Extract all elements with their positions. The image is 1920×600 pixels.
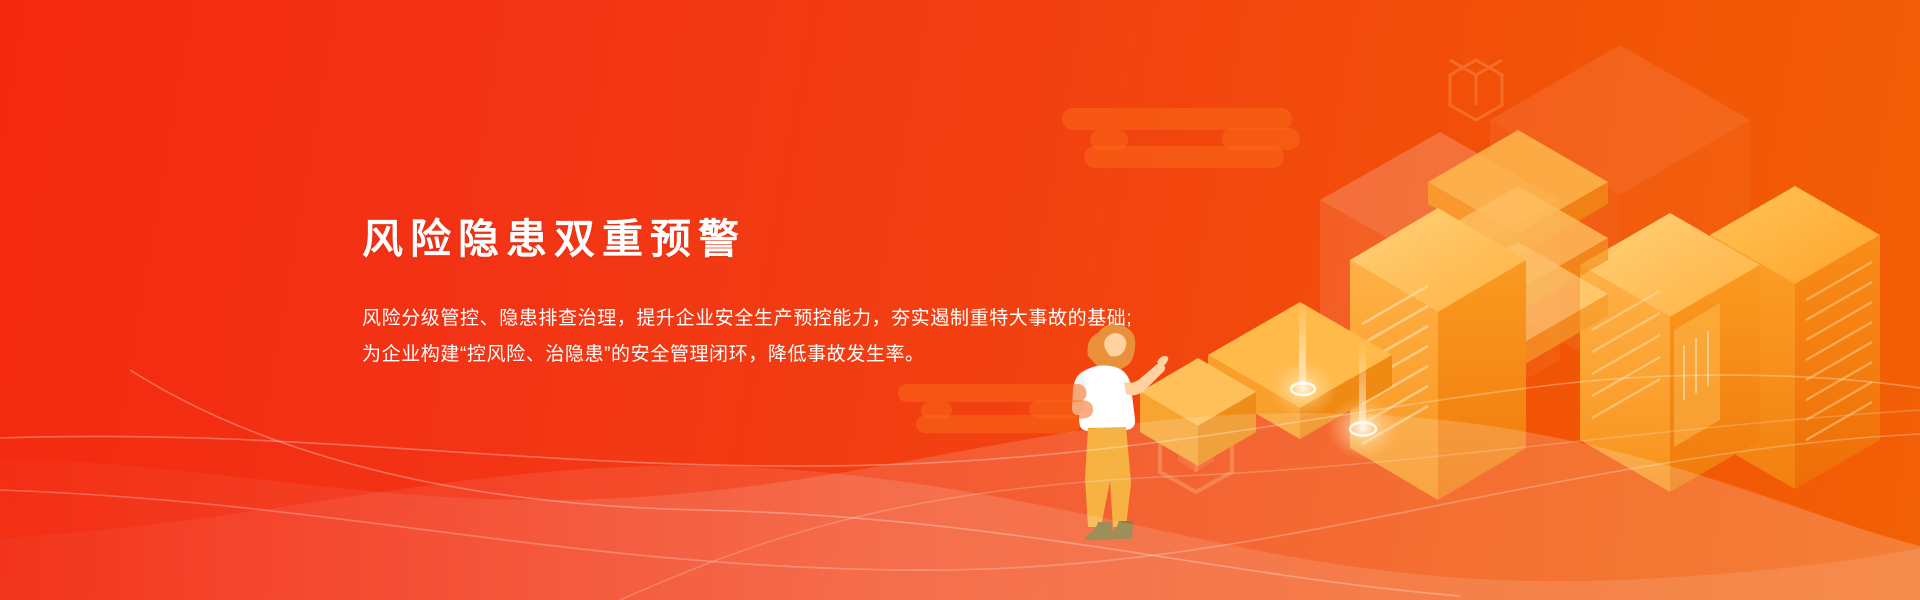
server-tower-right [1710,186,1880,489]
glow-beacon [1269,300,1337,418]
glow-beacon [1327,340,1399,460]
banner-subtitle: 风险分级管控、隐患排查治理，提升企业安全生产预控能力，夯实遏制重特大事故的基础;… [362,265,1222,373]
ghost-blocks [1320,45,1750,428]
small-box [1140,358,1256,466]
server-rack-striped [1350,208,1526,500]
platform-slab [1208,302,1392,439]
wave-line-1 [0,375,1920,466]
hero-banner: 风险隐患双重预警 风险分级管控、隐患排查治理，提升企业安全生产预控能力，夯实遏制… [0,0,1920,600]
hexagon-cube-icon [1238,327,1318,419]
wave-line-4 [620,410,1920,600]
wave-line-2 [130,370,1460,596]
subtitle-line-1: 风险分级管控、隐患排查治理，提升企业安全生产预控能力，夯实遏制重特大事故的基础; [362,301,1222,337]
wave-shape-back [0,413,1920,600]
banner-copy: 风险隐患双重预警 风险分级管控、隐患排查治理，提升企业安全生产预控能力，夯实遏制… [362,214,1222,373]
server-tower-mid [1580,213,1760,492]
wave-line-3 [0,434,1920,570]
wave-svg [0,370,1920,600]
layered-plates [1428,130,1608,368]
hexagon-cube-icon [1450,60,1502,120]
hexagon-cube-icon [1160,410,1232,492]
page-title: 风险隐患双重预警 [362,214,1222,265]
wave-decoration [0,370,1920,600]
wave-shape-front [0,466,1920,600]
subtitle-line-2: 为企业构建“控风险、治隐患”的安全管理闭环，降低事故发生率。 [362,337,1222,373]
